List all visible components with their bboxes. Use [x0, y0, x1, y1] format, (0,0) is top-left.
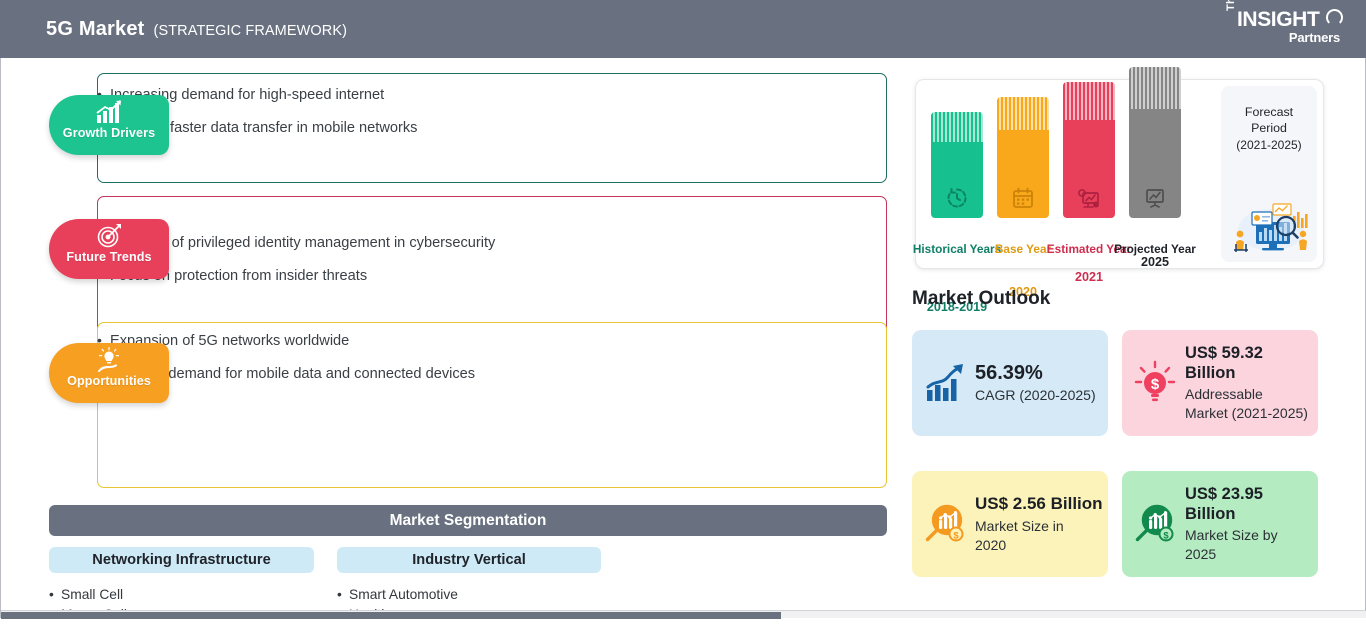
bar-chart-growth-icon	[92, 99, 126, 125]
bar-solid	[1129, 109, 1181, 218]
target-dart-icon	[92, 223, 126, 249]
calendar-icon	[1011, 186, 1035, 210]
list-item: Small Cell	[49, 585, 314, 605]
page-title: 5G Market	[46, 18, 145, 41]
outlook-card-cagr[interactable]: 56.39% CAGR (2020-2025)	[912, 330, 1108, 436]
clock-history-icon	[945, 186, 969, 210]
bar-solid	[1063, 120, 1115, 218]
outlook-card-text: 56.39% CAGR (2020-2025)	[975, 362, 1098, 405]
infographic-page: 5G Market (STRATEGIC FRAMEWORK) The INSI…	[0, 0, 1366, 626]
bar-solid	[931, 142, 983, 218]
svg-text:$: $	[953, 530, 959, 541]
page-subtitle: (STRATEGIC FRAMEWORK)	[154, 23, 348, 39]
lightbulb-hand-icon	[92, 347, 126, 373]
outlook-card-caption: Addressable Market (2021-2025)	[1185, 385, 1308, 423]
data-analysis-illustration	[1226, 194, 1312, 256]
logo-the-text: The	[1225, 0, 1237, 11]
bar-body	[1129, 67, 1181, 218]
timeline-bars: 2018-2019	[924, 80, 1204, 270]
page-header: 5G Market (STRATEGIC FRAMEWORK) The INSI…	[0, 0, 1366, 58]
badge-label: Opportunities	[67, 374, 151, 388]
bar-stripe	[1063, 82, 1115, 120]
segment-pill[interactable]: Networking Infrastructure	[49, 547, 314, 573]
logo-partners-text: Partners	[1289, 30, 1340, 45]
bar-category-label: Base Year	[995, 243, 1051, 256]
outlook-card-text: US$ 59.32 Billion Addressable Market (20…	[1185, 343, 1308, 423]
badge-growth-drivers[interactable]: Growth Drivers	[49, 95, 169, 155]
outlook-card-text: US$ 2.56 Billion Market Size in 2020	[975, 493, 1098, 555]
left-column: Growth Drivers Increasing demand for hig…	[1, 58, 901, 618]
outlook-card-text: US$ 23.95 Billion Market Size by 2025	[1185, 484, 1308, 564]
content-frame: Growth Drivers Increasing demand for hig…	[0, 58, 1366, 618]
segment-title: Networking Infrastructure	[92, 552, 270, 568]
outlook-card-market-size-2020[interactable]: $ US$ 2.56 Billion Market Size in 2020	[912, 471, 1108, 577]
bar-category-label: Historical Years	[913, 243, 1001, 256]
magnifier-chart-dollar-icon: $	[1132, 501, 1178, 547]
outlook-card-caption: Market Size by 2025	[1185, 526, 1308, 564]
horizontal-scrollbar[interactable]	[1, 610, 1366, 618]
outlook-card-value: US$ 23.95 Billion	[1185, 485, 1263, 523]
magnifier-chart-dollar-icon: $	[922, 501, 968, 547]
lightbulb-dollar-icon: $	[1132, 360, 1178, 406]
svg-text:$: $	[1163, 530, 1169, 541]
segment-item-list: Small Cell Macro Cell	[49, 585, 314, 625]
bar-body	[997, 97, 1049, 218]
outlook-card-addressable-market[interactable]: $ US$ 59.32 Billion Addressable Market (…	[1122, 330, 1318, 436]
segment-item-list: Smart Automotive Healthcare Smart Transp…	[337, 585, 601, 626]
bar-stripe	[931, 112, 983, 142]
list-item: Smart Automotive	[337, 585, 601, 605]
right-column: 2018-2019	[901, 58, 1366, 618]
presentation-chart-icon	[1143, 186, 1167, 210]
bar-solid	[997, 130, 1049, 218]
logo-insight-text: INSIGHT	[1237, 8, 1319, 32]
badge-label: Growth Drivers	[63, 126, 155, 140]
market-outlook-title: Market Outlook	[912, 288, 1050, 310]
growth-bar-chart-icon	[922, 360, 968, 406]
outlook-card-value: 56.39%	[975, 362, 1043, 384]
segment-pill[interactable]: Industry Vertical	[337, 547, 601, 573]
market-segmentation-title: Market Segmentation	[390, 512, 547, 530]
outlook-card-caption: Market Size in 2020	[975, 517, 1098, 555]
scrollbar-thumb[interactable]	[1, 612, 781, 619]
outlook-card-value: US$ 59.32 Billion	[1185, 344, 1263, 382]
forecast-title-line1: Forecast	[1221, 104, 1317, 120]
bar-body	[1063, 82, 1115, 218]
bar-year-label: 2025	[1141, 255, 1169, 269]
outlook-card-market-size-2025[interactable]: $ US$ 23.95 Billion Market Size by 2025	[1122, 471, 1318, 577]
forecast-years: (2021-2025)	[1221, 138, 1317, 152]
badge-future-trends[interactable]: Future Trends	[49, 219, 169, 279]
logo-ring-icon	[1326, 9, 1343, 26]
forecast-title-line2: Period	[1221, 120, 1317, 136]
badge-label: Future Trends	[66, 250, 151, 264]
header-title-group: 5G Market (STRATEGIC FRAMEWORK)	[46, 18, 347, 41]
bar-body	[931, 112, 983, 218]
outlook-card-caption: CAGR (2020-2025)	[975, 386, 1098, 405]
outlook-card-value: US$ 2.56 Billion	[975, 494, 1103, 513]
insight-partners-logo: The INSIGHT Partners	[1224, 8, 1344, 52]
badge-opportunities[interactable]: Opportunities	[49, 343, 169, 403]
market-segmentation-header: Market Segmentation	[49, 505, 887, 536]
study-period-timeline-chart: 2018-2019	[915, 79, 1324, 269]
analytics-gear-icon	[1077, 186, 1101, 210]
bar-category-label: Projected Year	[1114, 243, 1196, 256]
bar-stripe	[997, 97, 1049, 130]
bar-year-label: 2021	[1075, 270, 1103, 284]
svg-text:$: $	[1151, 376, 1160, 393]
forecast-period-panel: Forecast Period (2021-2025)	[1221, 86, 1317, 262]
bar-stripe	[1129, 67, 1181, 109]
segment-title: Industry Vertical	[412, 552, 526, 568]
